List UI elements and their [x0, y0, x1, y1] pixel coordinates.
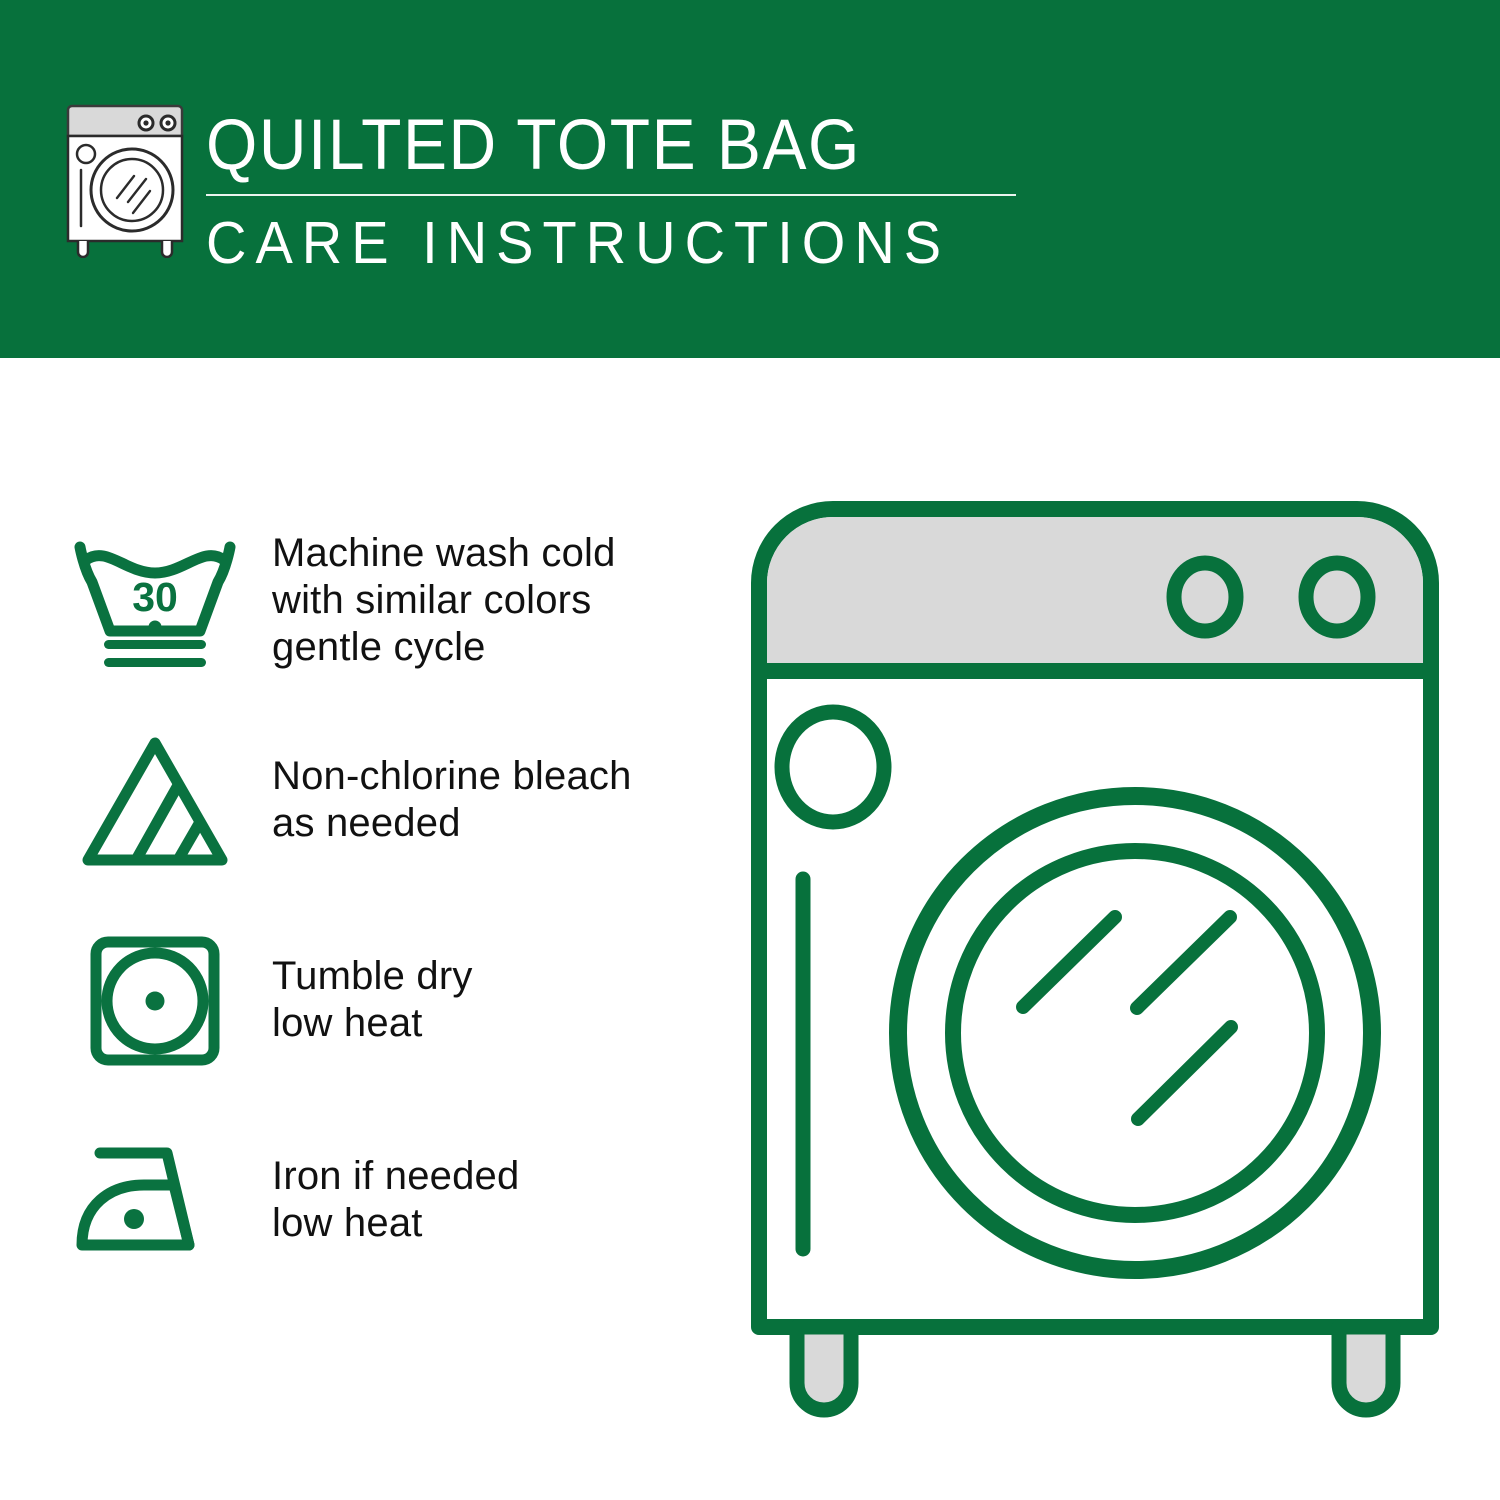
- header-titles: QUILTED TOTE BAG CARE INSTRUCTIONS: [206, 98, 1016, 272]
- header-band: QUILTED TOTE BAG CARE INSTRUCTIONS: [0, 0, 1500, 358]
- care-instruction-label: Iron if needed low heat: [260, 1153, 519, 1247]
- list-item: Iron if needed low heat: [70, 1100, 710, 1300]
- header-content: QUILTED TOTE BAG CARE INSTRUCTIONS: [62, 98, 1016, 272]
- non-chlorine-bleach-triangle-icon: [70, 725, 260, 875]
- wash-tub-30-gentle-icon: 30: [70, 525, 260, 675]
- list-item: 30 Machine wash cold with similar colors…: [70, 500, 710, 700]
- title-divider: [206, 194, 1016, 196]
- list-item: Non-chlorine bleach as needed: [70, 700, 710, 900]
- wash-temperature-value: 30: [132, 574, 178, 620]
- iron-low-heat-icon: [70, 1125, 260, 1275]
- care-instruction-label: Non-chlorine bleach as needed: [260, 753, 632, 847]
- front-load-washing-machine-illustration: [745, 495, 1445, 1430]
- leg-left: [797, 1327, 851, 1410]
- care-instruction-list: 30 Machine wash cold with similar colors…: [70, 500, 710, 1300]
- page-title: QUILTED TOTE BAG: [206, 104, 1016, 184]
- leg-right: [1339, 1327, 1393, 1410]
- list-item: Tumble dry low heat: [70, 900, 710, 1100]
- care-instruction-label: Tumble dry low heat: [260, 953, 473, 1047]
- tumble-dry-low-icon: [70, 925, 260, 1075]
- control-panel: [767, 517, 1423, 665]
- care-instruction-label: Machine wash cold with similar colors ge…: [260, 530, 616, 671]
- washing-machine-icon: [62, 98, 188, 258]
- page-subtitle: CARE INSTRUCTIONS: [206, 210, 1016, 276]
